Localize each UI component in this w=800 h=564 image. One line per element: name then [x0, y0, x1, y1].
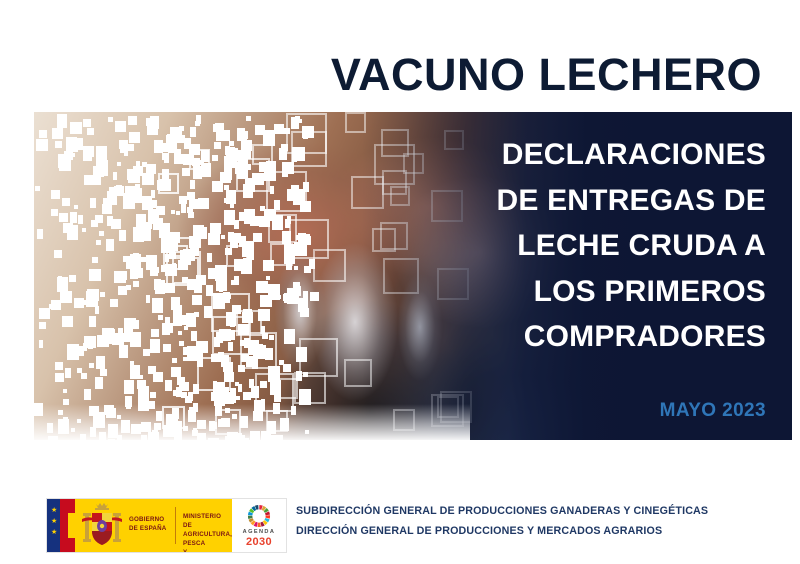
flag-red-stripe-c	[68, 538, 75, 552]
headline-line-2: DE ENTREGAS DE	[466, 178, 766, 224]
agenda-year-label: 2030	[246, 536, 272, 548]
footer: ★ ★ ★	[0, 490, 800, 564]
logo-text-block: GOBIERNO DE ESPAÑA MINISTERIO DE AGRICUL…	[125, 499, 232, 552]
spain-eu-flag-icon: ★ ★ ★	[47, 499, 75, 552]
government-logo: ★ ★ ★	[46, 498, 287, 553]
department-line-2: DIRECCIÓN GENERAL DE PRODUCCIONES Y MERC…	[296, 522, 708, 542]
department-names: SUBDIRECCIÓN GENERAL DE PRODUCCIONES GAN…	[296, 502, 708, 542]
sdg-wheel-icon	[246, 503, 272, 529]
headline-line-3: LECHE CRUDA A	[466, 223, 766, 269]
page-title: VACUNO LECHERO	[0, 52, 762, 97]
government-name: GOBIERNO DE ESPAÑA	[129, 516, 166, 534]
ministry-name-line-2: DE AGRICULTURA, PESCA	[183, 522, 232, 549]
headline-line-5: COMPRADORES	[466, 314, 766, 360]
ministry-name-line-3: Y ALIMENTACIÓN	[183, 549, 232, 553]
cover-headline: DECLARACIONES DE ENTREGAS DE LECHE CRUDA…	[466, 132, 766, 360]
logo-divider	[175, 507, 176, 544]
department-line-1: SUBDIRECCIÓN GENERAL DE PRODUCCIONES GAN…	[296, 502, 708, 522]
ministry-name: MINISTERIO DE AGRICULTURA, PESCA Y ALIME…	[183, 513, 232, 553]
government-name-line-2: DE ESPAÑA	[129, 525, 166, 534]
flag-red-stripe-a	[60, 499, 68, 552]
headline-line-1: DECLARACIONES	[466, 132, 766, 178]
spain-coat-of-arms-icon	[79, 499, 125, 552]
government-name-line-1: GOBIERNO	[129, 516, 166, 525]
agenda-2030-logo: AGENDA 2030	[232, 499, 286, 552]
headline-line-4: LOS PRIMEROS	[466, 269, 766, 315]
eu-flag-band: ★ ★ ★	[47, 499, 60, 552]
publication-date: MAYO 2023	[466, 400, 766, 422]
flag-red-stripe-b	[68, 499, 75, 513]
ministry-name-line-1: MINISTERIO	[183, 513, 232, 522]
